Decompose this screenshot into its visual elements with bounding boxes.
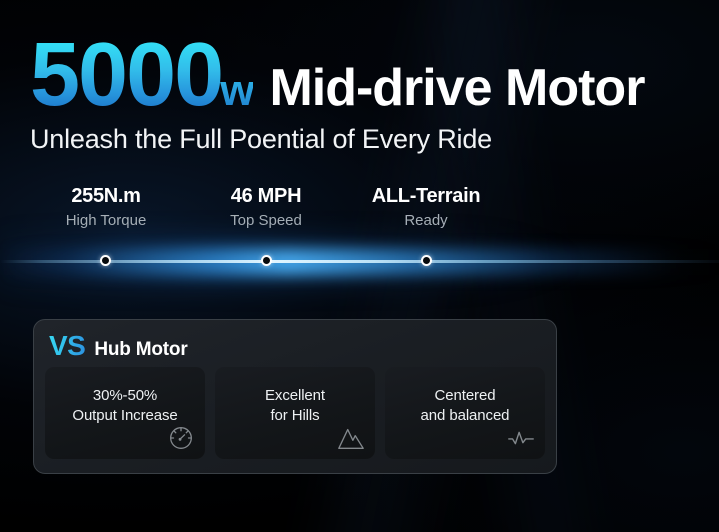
stat-value: 255N.m bbox=[26, 185, 186, 208]
dot-marker-terrain bbox=[421, 255, 432, 266]
headline: 5000 w Mid-drive Motor bbox=[30, 30, 710, 118]
stat-value: 46 MPH bbox=[186, 185, 346, 208]
tile-text: Centered and balanced bbox=[385, 386, 545, 427]
promo-banner: 5000 w Mid-drive Motor Unleash the Full … bbox=[0, 0, 719, 532]
tile-text: 30%-50% Output Increase bbox=[45, 386, 205, 427]
comparison-header: VS Hub Motor bbox=[45, 330, 545, 360]
dot-marker-speed bbox=[261, 255, 272, 266]
waveform-icon bbox=[506, 423, 536, 453]
stat-label: Top Speed bbox=[186, 212, 346, 229]
tile-line1: 30%-50% bbox=[93, 387, 157, 404]
vs-badge: VS bbox=[49, 330, 85, 362]
comparison-tile-balance: Centered and balanced bbox=[385, 367, 545, 459]
comparison-tile-output: 30%-50% Output Increase bbox=[45, 367, 205, 459]
headline-wattage-unit: w bbox=[220, 69, 253, 113]
tile-line1: Excellent bbox=[265, 387, 325, 404]
stat-label: Ready bbox=[346, 212, 506, 229]
tile-text: Excellent for Hills bbox=[215, 386, 375, 427]
comparison-card: VS Hub Motor 30%-50% Output Increase bbox=[33, 319, 557, 474]
headline-wattage: 5000 bbox=[30, 30, 222, 120]
dot-marker-torque bbox=[100, 255, 111, 266]
hero-section: 5000 w Mid-drive Motor Unleash the Full … bbox=[30, 30, 710, 155]
gauge-icon bbox=[166, 423, 196, 453]
stat-item-torque: 255N.m High Torque bbox=[26, 185, 186, 229]
glow-divider-line bbox=[0, 247, 719, 277]
tile-line1: Centered bbox=[435, 387, 496, 404]
stat-item-terrain: ALL-Terrain Ready bbox=[346, 185, 506, 229]
stats-section: 255N.m High Torque 46 MPH Top Speed ALL-… bbox=[0, 185, 719, 275]
stats-row: 255N.m High Torque 46 MPH Top Speed ALL-… bbox=[26, 185, 506, 229]
headline-product: Mid-drive Motor bbox=[269, 62, 644, 114]
stat-value: ALL-Terrain bbox=[346, 185, 506, 208]
comparison-subject: Hub Motor bbox=[94, 339, 187, 361]
stat-label: High Torque bbox=[26, 212, 186, 229]
hero-subtitle: Unleash the Full Poential of Every Ride bbox=[30, 124, 710, 155]
stat-item-speed: 46 MPH Top Speed bbox=[186, 185, 346, 229]
comparison-tile-hills: Excellent for Hills bbox=[215, 367, 375, 459]
mountain-icon bbox=[336, 423, 366, 453]
comparison-tiles: 30%-50% Output Increase bbox=[45, 367, 545, 459]
